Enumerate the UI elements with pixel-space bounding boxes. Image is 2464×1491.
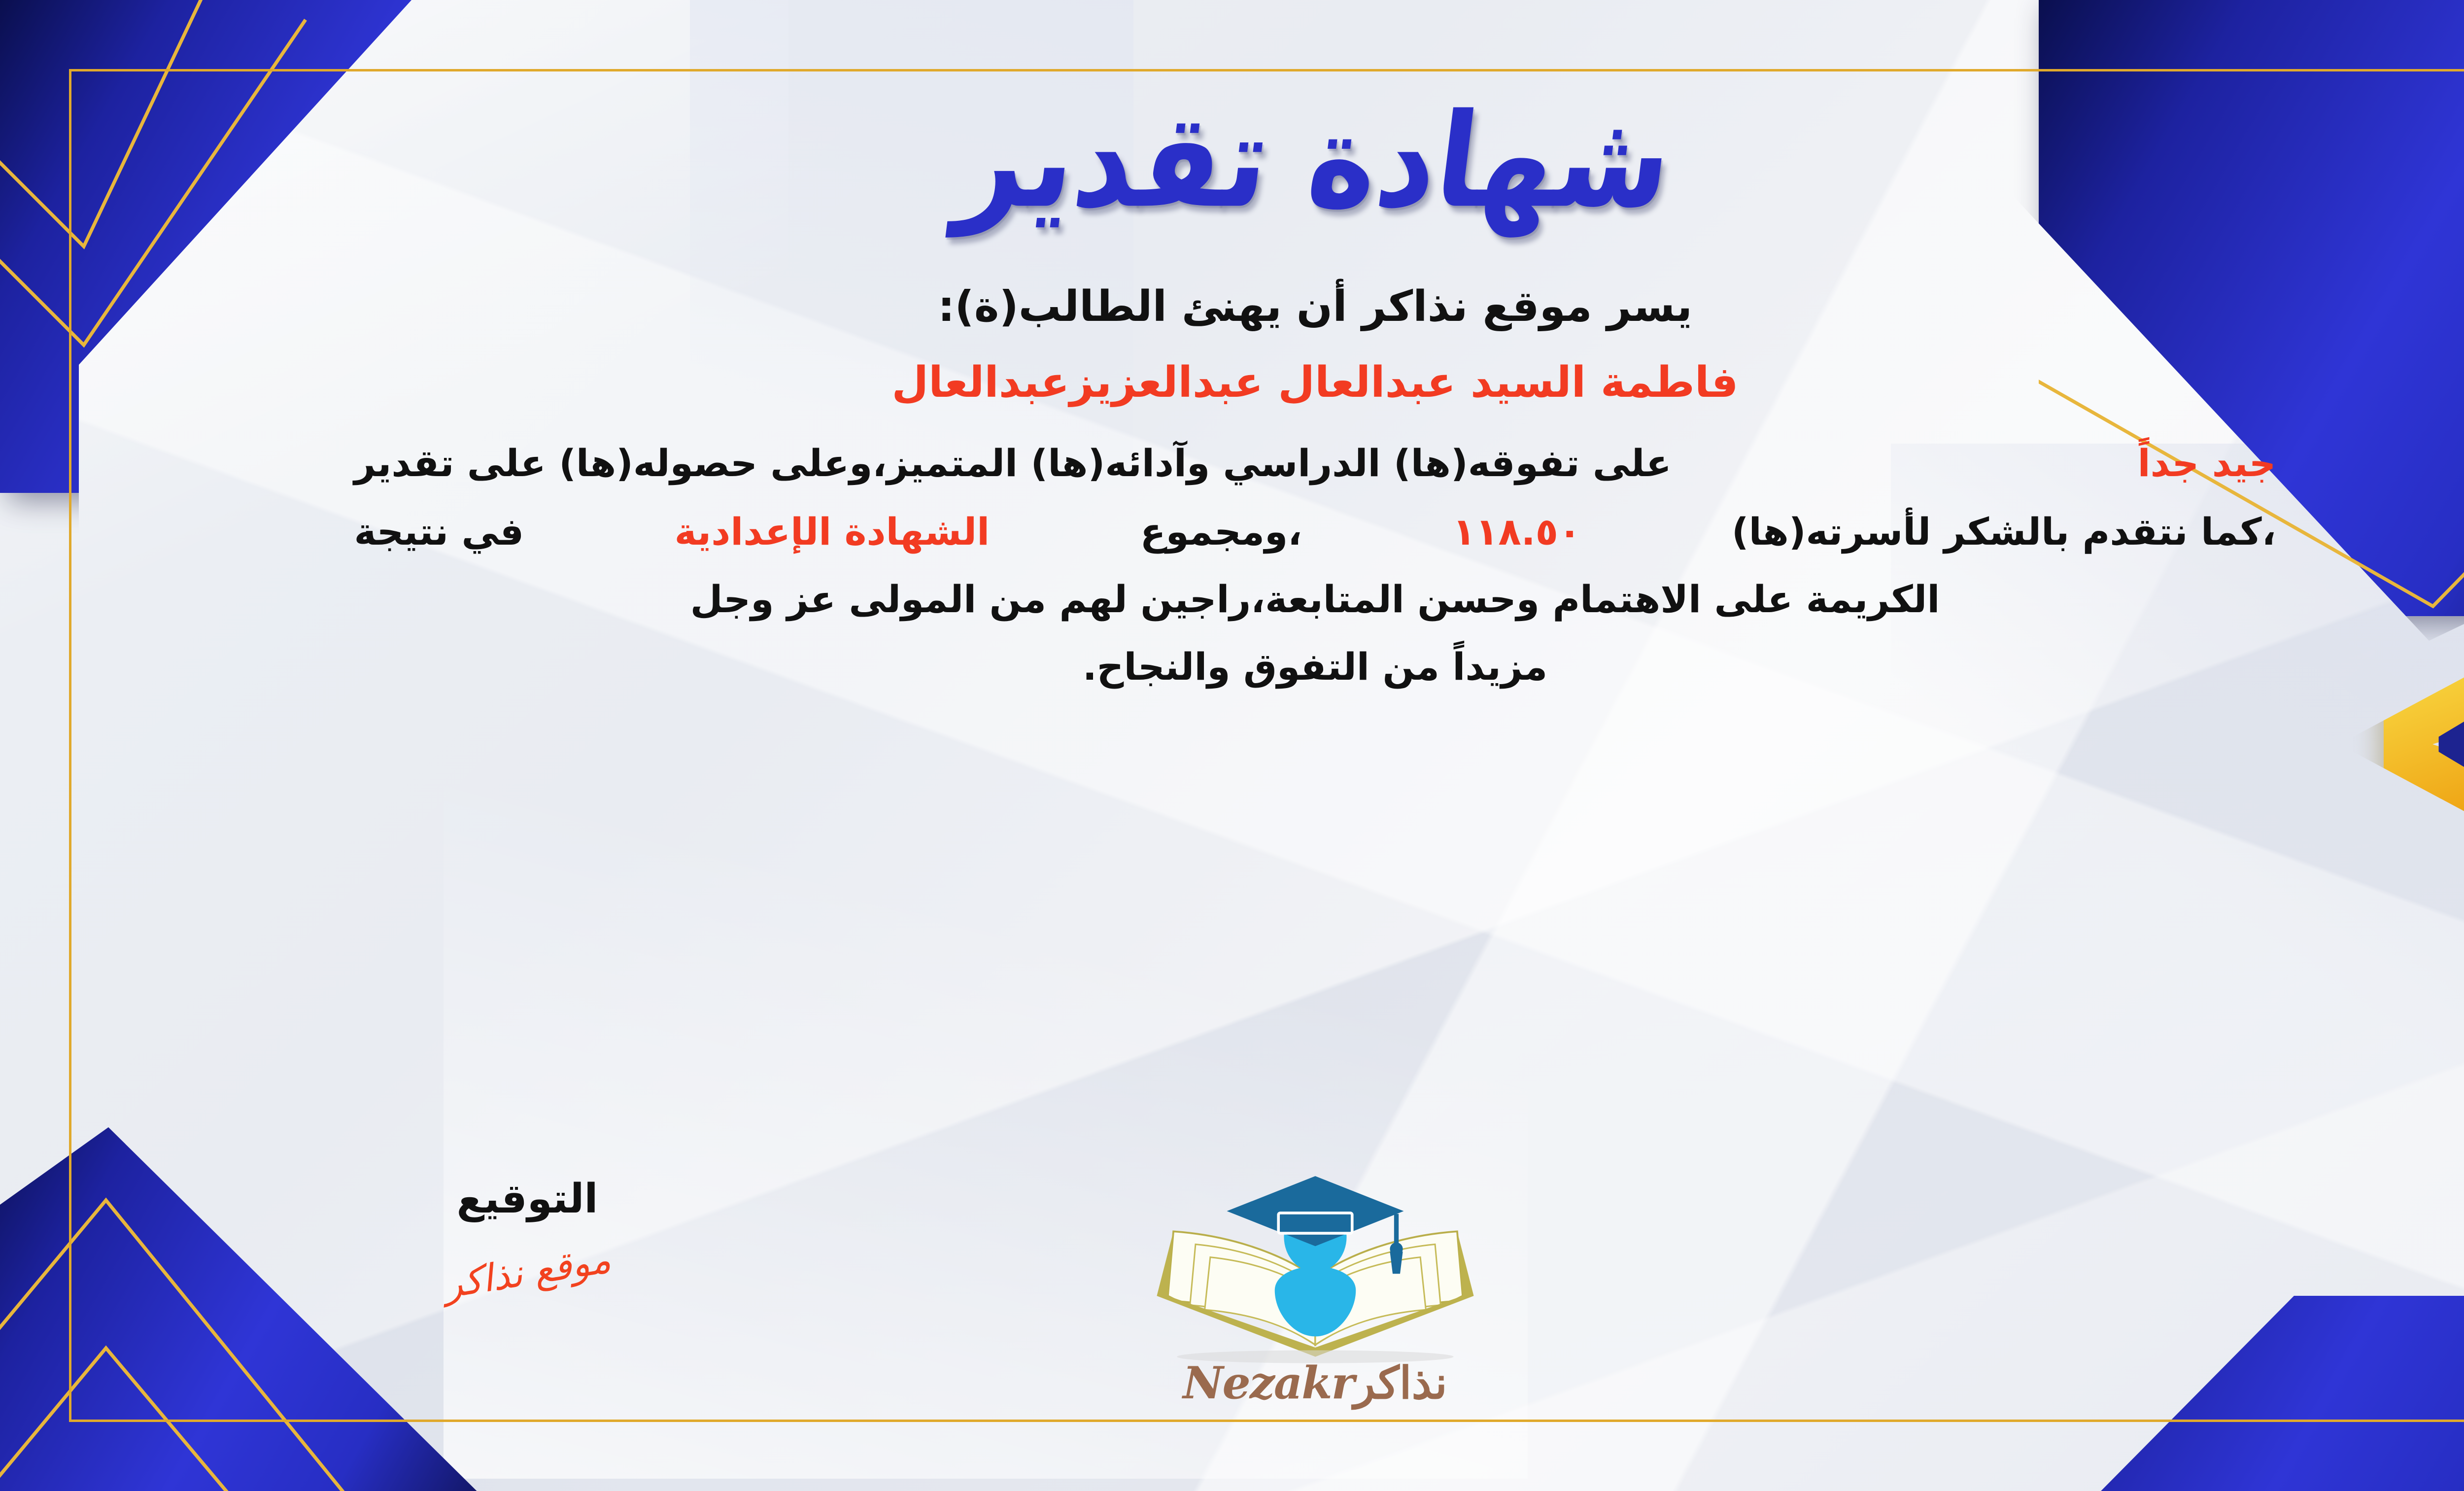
signature-block: التوقيع موقع نذاكر (340, 1176, 715, 1294)
intro-line: يسر موقع نذاكر أن يهنئ الطالب(ة): (354, 282, 2276, 331)
closing-line: مزيداً من التفوق والنجاح. (354, 636, 2276, 697)
brand-name-latin: Nezakr (1183, 1357, 1354, 1409)
result-label: في نتيجة (354, 501, 524, 562)
total-score-value: ١١٨.٥٠ (1453, 501, 1581, 562)
signature-label: التوقيع (340, 1176, 715, 1222)
certificate-name-value: الشهادة الإعدادية (675, 501, 990, 562)
brand-logo-text: نذاكرNezakr (1128, 1357, 1503, 1409)
brand-name-arabic: نذاكر (1354, 1357, 1447, 1409)
grade-value: جيد جداً (2138, 433, 2276, 493)
page-title: شهادة تقدير (951, 94, 1679, 230)
certificate-content: شهادة تقدير يسر موقع نذاكر أن يهنئ الطال… (74, 74, 2464, 1417)
achievement-text: على تفوقه(ها) الدراسي وآدائه(ها) المتميز… (354, 433, 1672, 493)
certificate-body: يسر موقع نذاكر أن يهنئ الطالب(ة): فاطمة … (354, 282, 2276, 697)
certificate-footer: التوقيع موقع نذاكر (74, 1111, 2464, 1427)
total-label: ،ومجموع (1140, 501, 1302, 562)
student-name: فاطمة السيد عبدالعال عبدالعزيزعبدالعال (354, 358, 2276, 407)
gratitude-line: الكريمة على الاهتمام وحسن المتابعة،راجين… (354, 569, 2276, 629)
result-line: ،كما نتقدم بالشكر لأسرته(ها) ١١٨.٥٠ ،ومج… (354, 501, 2276, 562)
signature-mark: موقع نذاكر (441, 1237, 614, 1307)
achievement-line: جيد جداً على تفوقه(ها) الدراسي وآدائه(ها… (354, 433, 2276, 493)
family-thanks-text: ،كما نتقدم بالشكر لأسرته(ها) (1732, 501, 2276, 562)
certificate-page: شهادة تقدير يسر موقع نذاكر أن يهنئ الطال… (0, 0, 2464, 1491)
graduate-book-logo-icon (1128, 1156, 1503, 1368)
brand-logo: نذاكرNezakr (1128, 1156, 1503, 1409)
